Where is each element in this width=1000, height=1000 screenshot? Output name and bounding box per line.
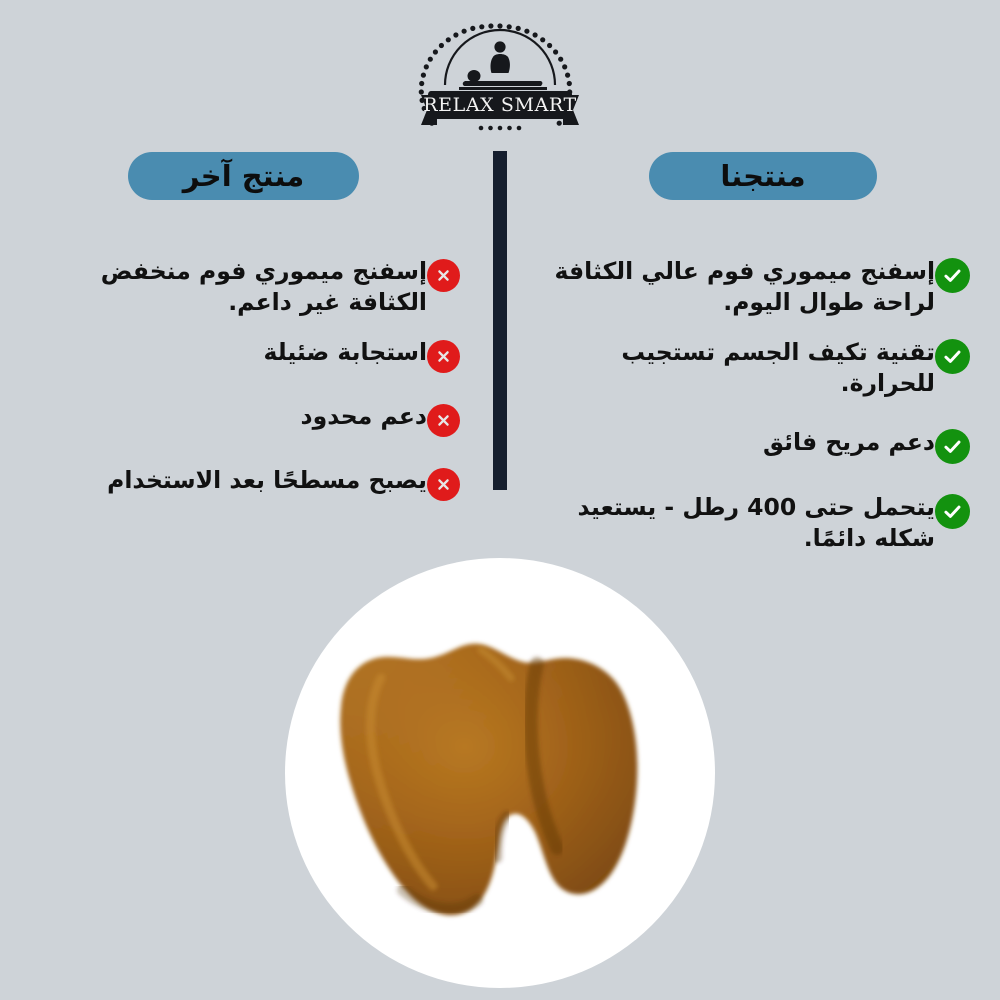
feature-row: يتحمل حتى 400 رطل - يستعيد شكله دائمًا. <box>540 491 970 554</box>
feature-text: تقنية تكيف الجسم تستجيب للحرارة. <box>540 336 935 399</box>
feature-text: يتحمل حتى 400 رطل - يستعيد شكله دائمًا. <box>540 491 935 554</box>
our-product-feature-list: إسفنج ميموري فوم عالي الكثافة لراحة طوال… <box>540 255 970 570</box>
massage-therapy-icon: RELAX SMART <box>415 21 585 139</box>
feature-text: دعم مريح فائق <box>540 426 935 458</box>
feature-text: إسفنج ميموري فوم عالي الكثافة لراحة طوال… <box>540 255 935 318</box>
seat-cushion-illustration <box>285 558 715 988</box>
feature-row: إسفنج ميموري فوم عالي الكثافة لراحة طوال… <box>540 255 970 318</box>
logo-wordmark: RELAX SMART <box>423 94 577 116</box>
other-product-feature-list: إسفنج ميموري فوم منخفض الكثافة غير داعم.… <box>60 255 460 517</box>
feature-row: دعم مريح فائق <box>540 426 970 464</box>
x-circle-icon <box>427 259 460 292</box>
feature-text: استجابة ضئيلة <box>60 336 427 368</box>
feature-text: إسفنج ميموري فوم منخفض الكثافة غير داعم. <box>60 255 427 318</box>
feature-text: يصبح مسطحًا بعد الاستخدام <box>60 464 427 496</box>
check-circle-icon <box>935 258 970 293</box>
badge-our-product[interactable]: منتجنا <box>649 152 877 200</box>
feature-text: دعم محدود <box>60 400 427 432</box>
feature-row: تقنية تكيف الجسم تستجيب للحرارة. <box>540 336 970 399</box>
column-divider <box>493 151 507 490</box>
check-circle-icon <box>935 339 970 374</box>
feature-row: دعم محدود <box>60 400 460 437</box>
product-image <box>285 558 715 988</box>
product-image-circle <box>285 558 715 988</box>
check-circle-icon <box>935 429 970 464</box>
logo-mark: RELAX SMART <box>415 21 585 139</box>
feature-row: استجابة ضئيلة <box>60 336 460 373</box>
brand-logo: RELAX SMART <box>0 20 1000 140</box>
x-circle-icon <box>427 468 460 501</box>
badge-other-product[interactable]: منتج آخر <box>128 152 359 200</box>
feature-row: يصبح مسطحًا بعد الاستخدام <box>60 464 460 501</box>
x-circle-icon <box>427 340 460 373</box>
check-circle-icon <box>935 494 970 529</box>
feature-row: إسفنج ميموري فوم منخفض الكثافة غير داعم. <box>60 255 460 318</box>
x-circle-icon <box>427 404 460 437</box>
